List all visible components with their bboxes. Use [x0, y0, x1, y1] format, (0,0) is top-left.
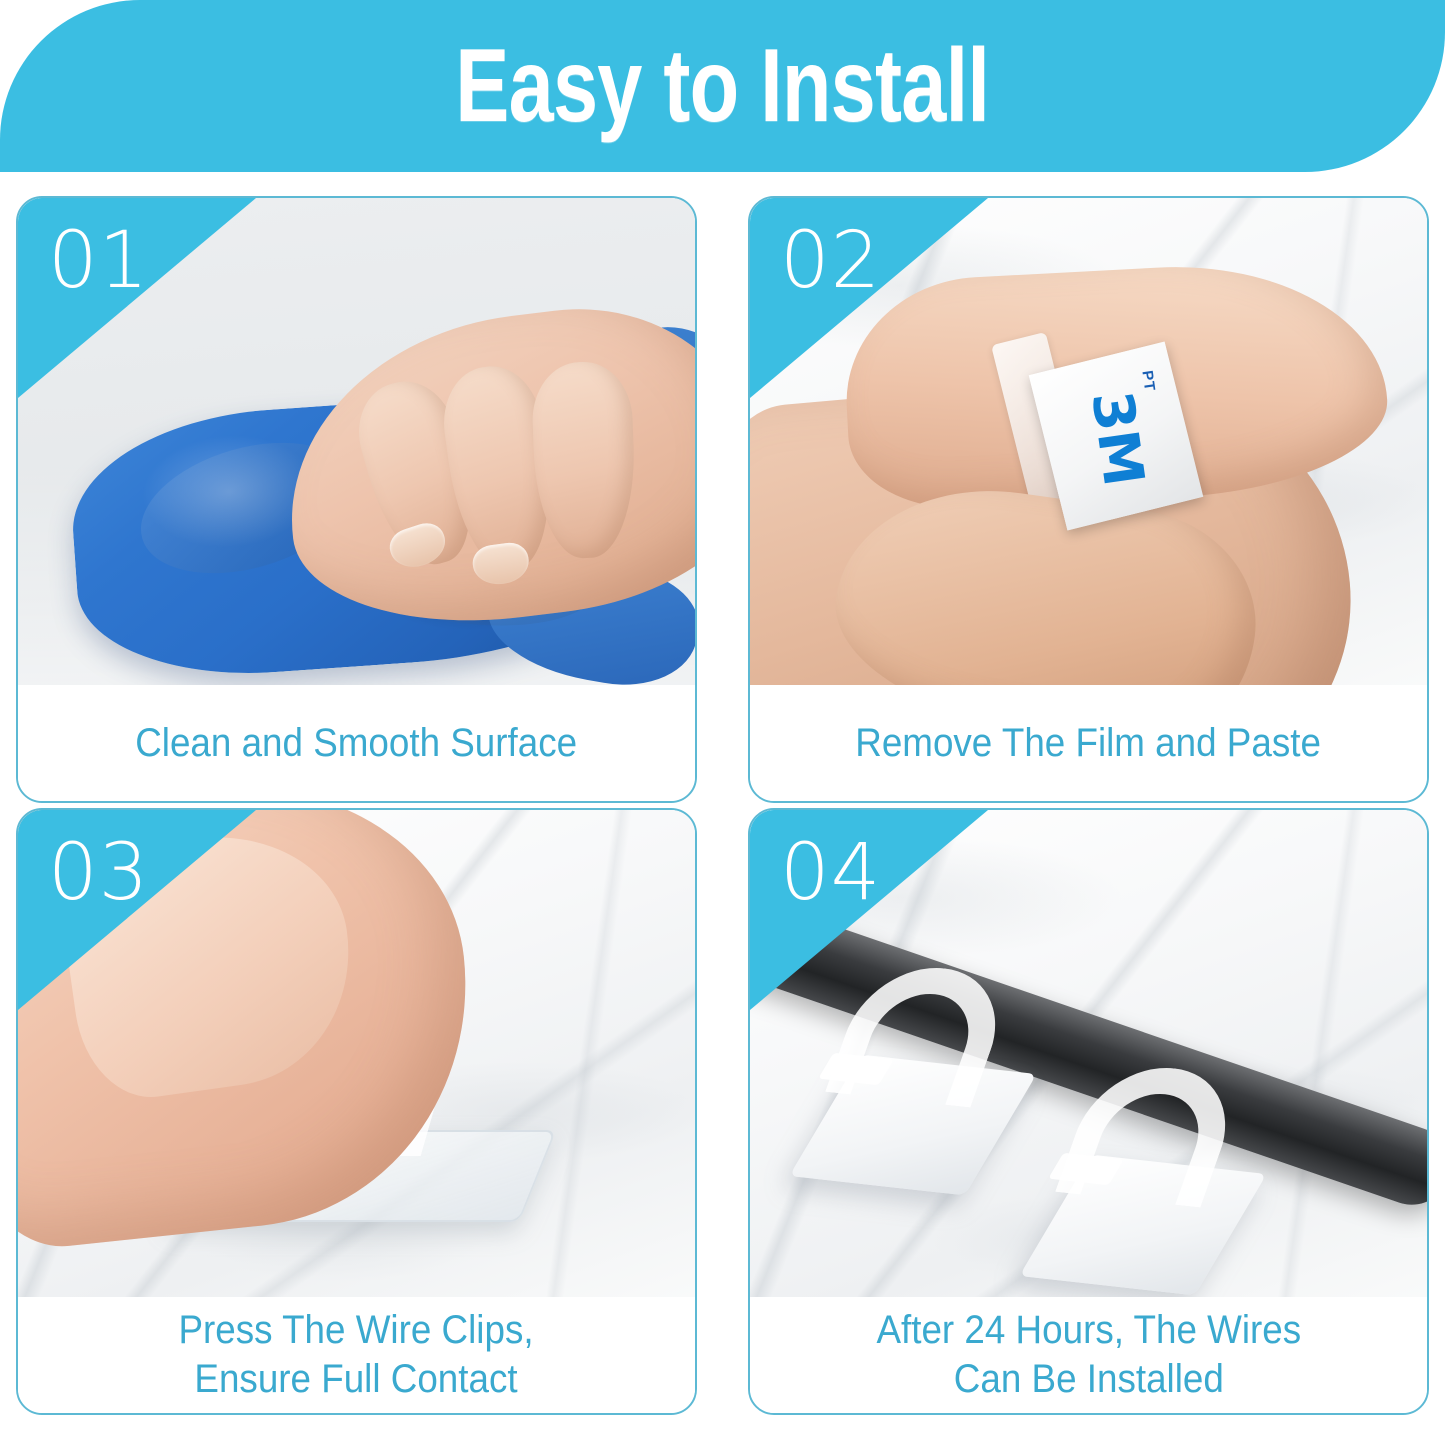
step-number-03: 03 — [48, 834, 149, 912]
step-photo-02: PT 3M 02 — [750, 198, 1427, 685]
page-title: Easy to Install — [456, 34, 990, 138]
step-photo-04: 04 — [750, 810, 1427, 1297]
infographic-page: Easy to Install 01 Clean — [0, 0, 1445, 1431]
header-banner: Easy to Install — [0, 0, 1445, 172]
step-card-02: PT 3M 02 Remove The Film and Paste — [748, 196, 1429, 803]
step-number-04: 04 — [780, 834, 881, 912]
step-photo-03: 03 — [18, 810, 695, 1297]
steps-grid: 01 Clean and Smooth Surface PT 3M 02 — [16, 196, 1429, 1415]
step-card-01: 01 Clean and Smooth Surface — [16, 196, 697, 803]
step-photo-01: 01 — [18, 198, 695, 685]
step-card-04: 04 After 24 Hours, The Wires Can Be Inst… — [748, 808, 1429, 1415]
step-caption-wrap-02: Remove The Film and Paste — [750, 685, 1427, 801]
step-number-01: 01 — [48, 222, 149, 300]
step-caption-wrap-03: Press The Wire Clips, Ensure Full Contac… — [18, 1297, 695, 1413]
step-caption-wrap-01: Clean and Smooth Surface — [18, 685, 695, 801]
brand-logo-3m: 3M — [1082, 388, 1151, 490]
step-caption-01: Clean and Smooth Surface — [136, 719, 578, 768]
step-caption-03: Press The Wire Clips, Ensure Full Contac… — [179, 1306, 534, 1404]
step-card-03: 03 Press The Wire Clips, Ensure Full Con… — [16, 808, 697, 1415]
step-caption-wrap-04: After 24 Hours, The Wires Can Be Install… — [750, 1297, 1427, 1413]
step-caption-04: After 24 Hours, The Wires Can Be Install… — [876, 1306, 1301, 1404]
step-number-02: 02 — [780, 222, 881, 300]
step-caption-02: Remove The Film and Paste — [856, 719, 1322, 768]
